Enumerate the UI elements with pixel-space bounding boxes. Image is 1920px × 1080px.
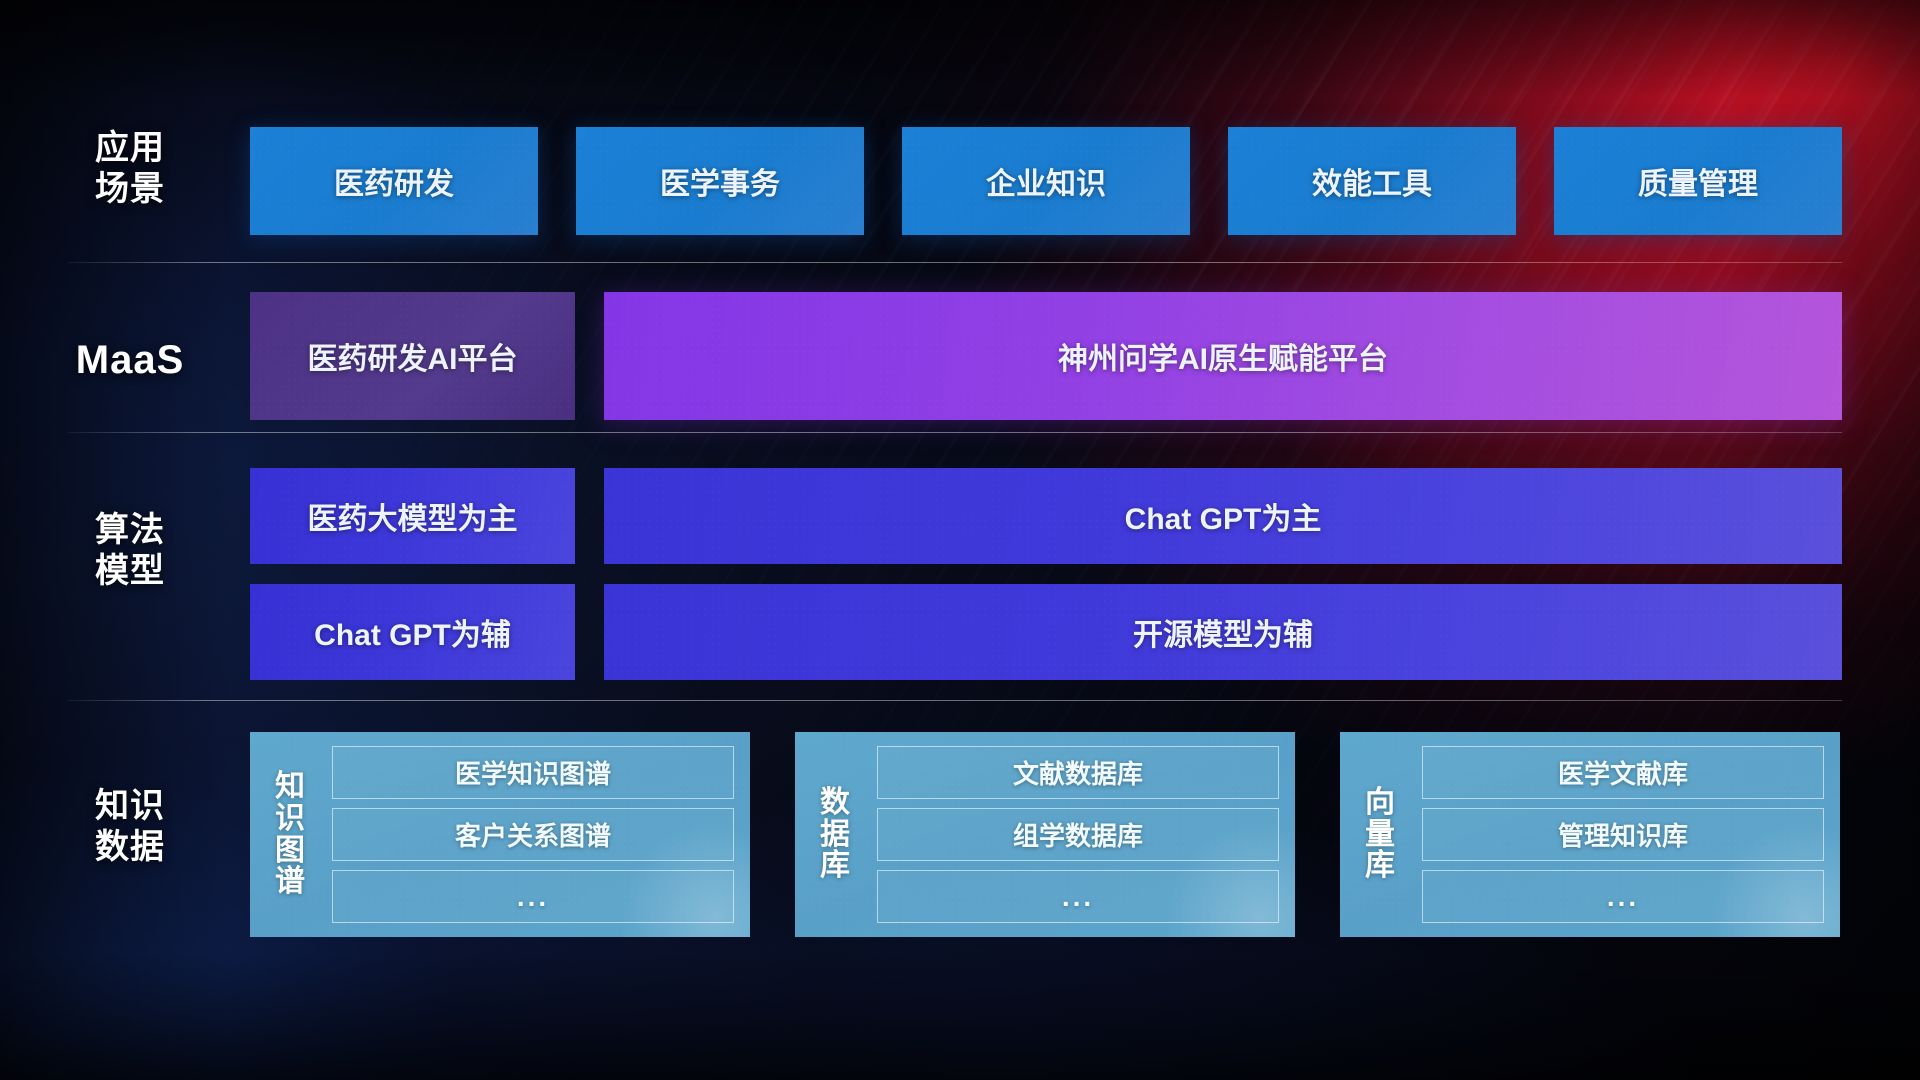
maas-box-medical-ai-platform[interactable]: 医药研发AI平台 [250,292,575,420]
row-label-algorithm: 算法 模型 [55,510,205,593]
divider-application-maas [68,262,1842,263]
knowledge-panel-vector-store-items: 医学文献库 管理知识库 ... [1422,746,1824,923]
database-title-char-3: 库 [820,850,850,882]
application-box-1-label: 医药研发 [334,159,454,203]
vector-store-title-char-2: 量 [1365,819,1395,851]
row-label-maas-text: MaaS [55,336,205,385]
application-box-3-label: 企业知识 [986,159,1106,203]
algorithm-box-chatgpt-primary-label: Chat GPT为主 [1125,494,1322,538]
vector-store-title-char-1: 向 [1365,787,1395,819]
application-box-1[interactable]: 医药研发 [250,127,538,235]
knowledge-graph-title-char-1: 知 [275,771,305,803]
divider-maas-algorithm [68,432,1842,433]
knowledge-panel-knowledge-graph-items: 医学知识图谱 客户关系图谱 ... [332,746,734,923]
row-label-application-line1: 应用 [55,128,205,169]
algorithm-box-opensource-secondary[interactable]: 开源模型为辅 [604,584,1842,680]
algorithm-box-chatgpt-secondary-label: Chat GPT为辅 [314,610,511,654]
row-label-algorithm-line1: 算法 [55,510,205,551]
database-title-char-1: 数 [820,787,850,819]
maas-box-shenzhou-platform[interactable]: 神州问学AI原生赋能平台 [604,292,1842,420]
knowledge-graph-item-3-more[interactable]: ... [332,870,734,923]
maas-box-medical-ai-platform-label: 医药研发AI平台 [308,334,518,378]
row-label-knowledge: 知识 数据 [55,786,205,869]
database-item-2[interactable]: 组学数据库 [877,808,1279,861]
vector-store-item-3-more[interactable]: ... [1422,870,1824,923]
knowledge-panel-vector-store[interactable]: 向 量 库 医学文献库 管理知识库 ... [1340,732,1840,937]
knowledge-panel-knowledge-graph-title: 知 识 图 谱 [262,746,318,923]
vector-store-item-2[interactable]: 管理知识库 [1422,808,1824,861]
application-box-4[interactable]: 效能工具 [1228,127,1516,235]
knowledge-panel-database-items: 文献数据库 组学数据库 ... [877,746,1279,923]
knowledge-panel-knowledge-graph[interactable]: 知 识 图 谱 医学知识图谱 客户关系图谱 ... [250,732,750,937]
maas-box-shenzhou-platform-label: 神州问学AI原生赋能平台 [1058,334,1388,378]
knowledge-graph-title-char-3: 图 [275,835,305,867]
application-box-3[interactable]: 企业知识 [902,127,1190,235]
application-box-5[interactable]: 质量管理 [1554,127,1842,235]
row-label-knowledge-line2: 数据 [55,827,205,868]
row-label-algorithm-line2: 模型 [55,551,205,592]
knowledge-panel-database[interactable]: 数 据 库 文献数据库 组学数据库 ... [795,732,1295,937]
diagram-canvas: 应用 场景 医药研发 医学事务 企业知识 效能工具 质量管理 MaaS [0,0,1920,1080]
algorithm-box-chatgpt-primary[interactable]: Chat GPT为主 [604,468,1842,564]
database-item-1[interactable]: 文献数据库 [877,746,1279,799]
application-box-4-label: 效能工具 [1312,159,1432,203]
vector-store-title-char-3: 库 [1365,850,1395,882]
row-label-maas: MaaS [55,336,205,385]
knowledge-graph-item-1[interactable]: 医学知识图谱 [332,746,734,799]
knowledge-graph-title-char-4: 谱 [275,866,305,898]
application-box-2[interactable]: 医学事务 [576,127,864,235]
database-title-char-2: 据 [820,819,850,851]
row-label-application-line2: 场景 [55,169,205,210]
knowledge-panel-database-title: 数 据 库 [807,746,863,923]
application-box-5-label: 质量管理 [1638,159,1758,203]
vector-store-item-1[interactable]: 医学文献库 [1422,746,1824,799]
algorithm-box-opensource-secondary-label: 开源模型为辅 [1133,610,1313,654]
database-item-3-more[interactable]: ... [877,870,1279,923]
knowledge-graph-title-char-2: 识 [275,803,305,835]
application-box-2-label: 医学事务 [660,159,780,203]
algorithm-box-medical-primary[interactable]: 医药大模型为主 [250,468,575,564]
row-label-application: 应用 场景 [55,128,205,211]
algorithm-box-medical-primary-label: 医药大模型为主 [308,494,518,538]
row-label-knowledge-line1: 知识 [55,786,205,827]
knowledge-graph-item-2[interactable]: 客户关系图谱 [332,808,734,861]
knowledge-panel-vector-store-title: 向 量 库 [1352,746,1408,923]
algorithm-box-chatgpt-secondary[interactable]: Chat GPT为辅 [250,584,575,680]
divider-algorithm-knowledge [68,700,1842,701]
